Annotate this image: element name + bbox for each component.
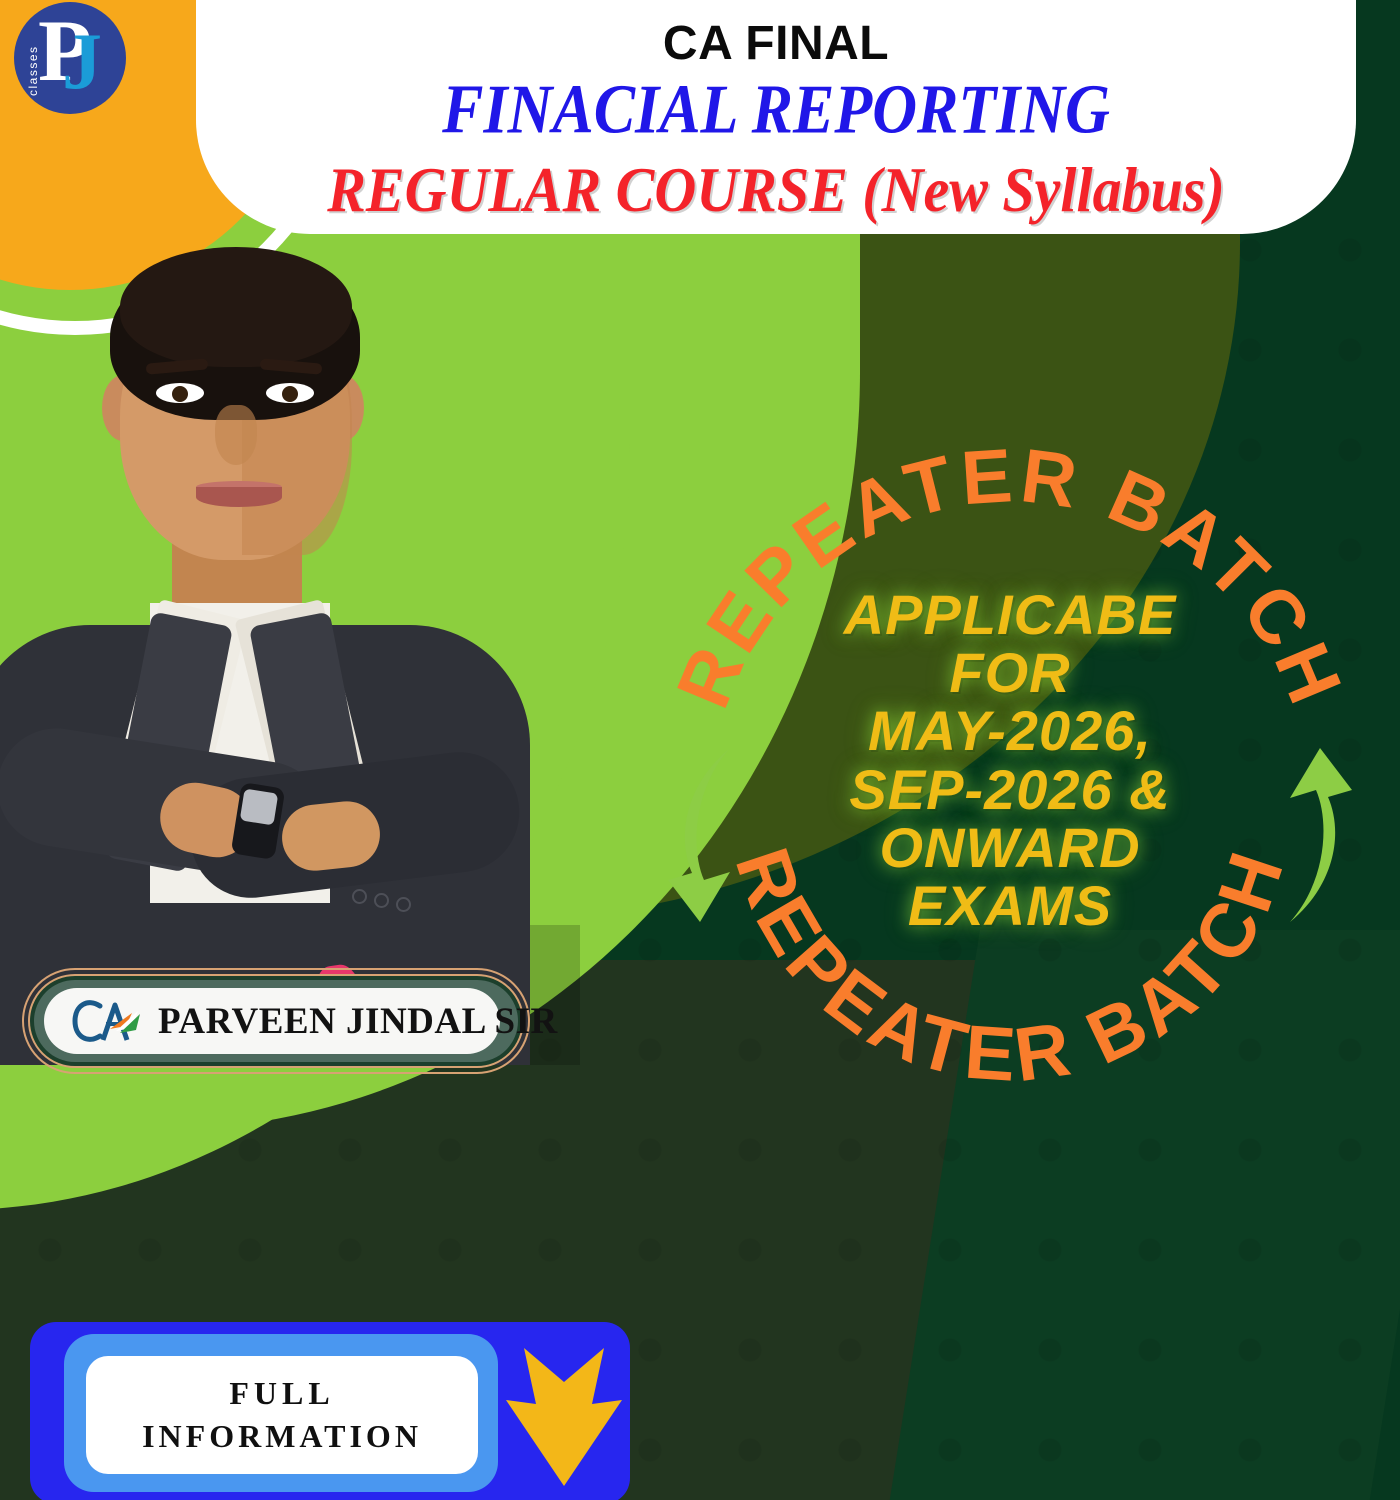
applicability-line-3: MAY-2026,	[736, 702, 1284, 760]
applicability-line-6: EXAMS	[736, 877, 1284, 935]
header-line-course-type: REGULAR COURSE (New Syllabus)	[327, 154, 1225, 227]
applicability-text: APPLICABE FOR MAY-2026, SEP-2026 & ONWAR…	[736, 586, 1284, 935]
cta-label-line-1: FULL	[229, 1375, 334, 1412]
applicability-line-5: ONWARD	[736, 819, 1284, 877]
logo-letter-j: J	[62, 22, 102, 102]
header-line-subject: FINACIAL REPORTING	[442, 72, 1110, 150]
repeater-batch-circle: REPEATER BATCH REPEATER BATCH APPLICABE …	[640, 400, 1380, 1140]
presenter-name: PARVEEN JINDAL SIR	[158, 1000, 558, 1043]
promotional-poster: classes P J	[0, 0, 1400, 1500]
instructor-portrait	[0, 225, 620, 1065]
header-title-card: CA FINAL FINACIAL REPORTING REGULAR COUR…	[196, 0, 1356, 234]
applicability-line-4: SEP-2026 &	[736, 761, 1284, 819]
cta-label-box: FULL INFORMATION	[86, 1356, 478, 1474]
cta-label-line-2: INFORMATION	[142, 1418, 422, 1455]
presenter-name-badge: PARVEEN JINDAL SIR	[22, 968, 530, 1074]
ca-logo-icon	[70, 997, 144, 1045]
applicability-line-1: APPLICABE	[736, 586, 1284, 644]
curved-arrow-down-icon	[660, 740, 780, 930]
header-line-course-level: CA FINAL	[663, 19, 889, 69]
pj-classes-logo: classes P J	[14, 2, 126, 114]
arrow-down-icon	[500, 1342, 628, 1492]
curved-arrow-up-icon	[1240, 740, 1360, 930]
full-information-cta[interactable]: FULL INFORMATION	[30, 1322, 630, 1500]
applicability-line-2: FOR	[736, 644, 1284, 702]
